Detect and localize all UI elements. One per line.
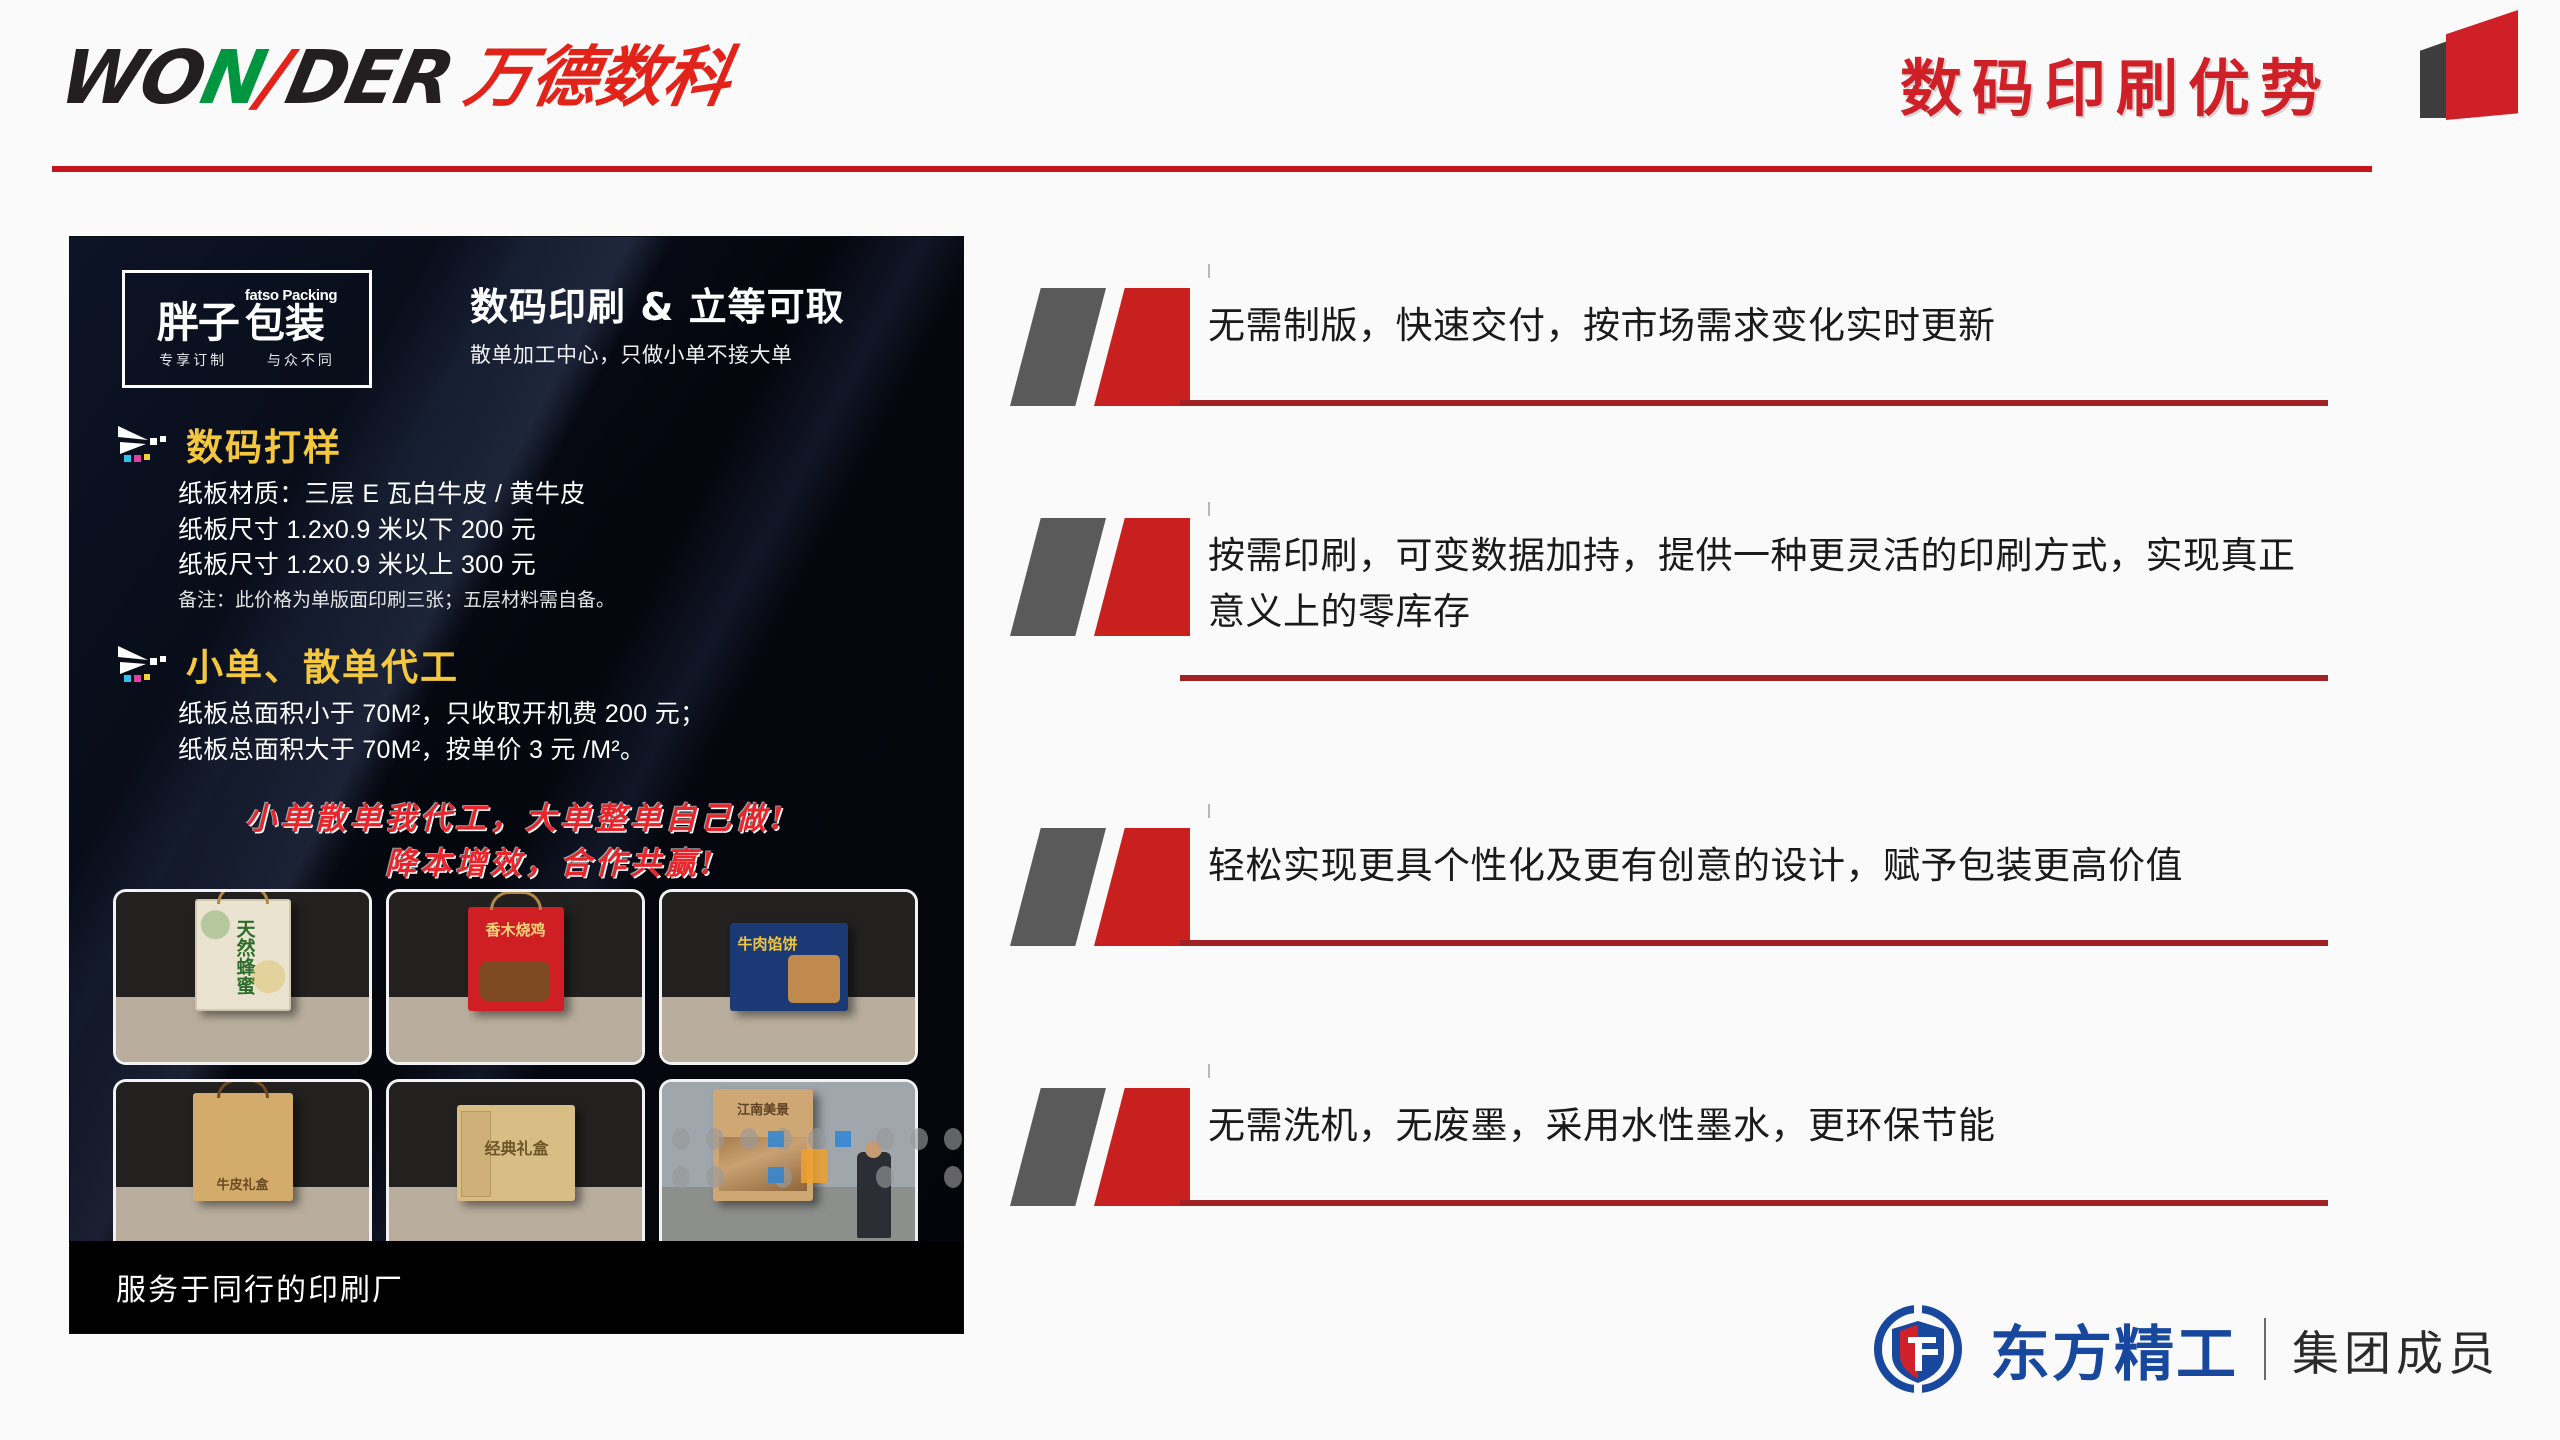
slogan-line-2: 降本增效，合作共赢! bbox=[70, 842, 963, 887]
bullet-underline bbox=[1180, 940, 2328, 946]
bullet-tick bbox=[1208, 804, 1210, 818]
section-line: 纸板总面积大于 70M²，按单价 3 元 /M²。 bbox=[178, 733, 916, 769]
section-line: 纸板尺寸 1.2x0.9 米以上 300 元 bbox=[178, 548, 916, 584]
bullet-text: 无需洗机，无废墨，采用水性墨水，更环保节能 bbox=[1208, 1098, 2320, 1154]
chevron-right-icon bbox=[116, 424, 172, 464]
bullet-text: 按需印刷，可变数据加持，提供一种更灵活的印刷方式，实现真正意义上的零库存 bbox=[1208, 528, 2320, 639]
marker-red-parallelogram bbox=[1094, 828, 1190, 946]
section-title: 数码打样 bbox=[186, 417, 342, 471]
brand-word-der: DER bbox=[280, 41, 459, 115]
product-photo-caption: 牛皮礼盒 bbox=[193, 1174, 293, 1193]
dongfang-emblem-icon bbox=[1872, 1303, 1964, 1395]
bullet-underline bbox=[1180, 1200, 2328, 1206]
corner-decoration-icon bbox=[2412, 8, 2532, 120]
product-photo: 香木烧鸡 bbox=[389, 892, 642, 1062]
bullet-tick bbox=[1208, 1064, 1210, 1078]
section-line: 纸板材质：三层 E 瓦白牛皮 / 黄牛皮 bbox=[178, 477, 916, 513]
poster-section-digital-proofing: 数码打样 纸板材质：三层 E 瓦白牛皮 / 黄牛皮 纸板尺寸 1.2x0.9 米… bbox=[116, 417, 916, 615]
bullet-text: 无需制版，快速交付，按市场需求变化实时更新 bbox=[1208, 298, 2320, 354]
poster-headline: 数码印刷 & 立等可取 bbox=[470, 285, 910, 331]
poster-section-small-order-oem: 小单、散单代工 纸板总面积小于 70M²，只收取开机费 200 元； 纸板总面积… bbox=[116, 637, 916, 768]
bullet-underline bbox=[1180, 675, 2328, 681]
poster-slogan: 小单散单我代工，大单整单自己做! 降本增效，合作共赢! bbox=[70, 797, 963, 887]
corner-red-shape bbox=[2446, 10, 2518, 120]
bullet-marker-icon bbox=[1010, 288, 1210, 408]
section-line: 纸板总面积小于 70M²，只收取开机费 200 元； bbox=[178, 697, 916, 733]
product-photo: 牛肉馅饼 bbox=[662, 892, 915, 1062]
footer-member-label: 集团成员 bbox=[2292, 1315, 2500, 1384]
marker-red-parallelogram bbox=[1094, 288, 1190, 406]
fatso-sub-left: 专享订制 bbox=[159, 352, 227, 368]
product-photo: 经典礼盒 bbox=[389, 1082, 642, 1252]
fatso-packing-logo: 胖子 fatso Packing 包装 专享订制 与众不同 bbox=[122, 270, 372, 388]
product-photo-caption: 江南美景 bbox=[713, 1099, 813, 1118]
marker-gray-parallelogram bbox=[1010, 828, 1106, 946]
marker-gray-parallelogram bbox=[1010, 518, 1106, 636]
product-photo-caption: 香木烧鸡 bbox=[468, 919, 564, 940]
footer-divider bbox=[2264, 1318, 2266, 1380]
product-photo-caption: 牛肉馅饼 bbox=[738, 933, 798, 954]
bullet-marker-icon bbox=[1010, 518, 1210, 638]
bullet-tick bbox=[1208, 502, 1210, 516]
photo-row: 天然蜂蜜 香木烧鸡 牛肉馅饼 bbox=[116, 892, 916, 1062]
bullet-tick bbox=[1208, 264, 1210, 278]
poster-footer-text: 服务于同行的印刷厂 bbox=[116, 1265, 404, 1309]
poster-subheadline: 散单加工中心，只做小单不接大单 bbox=[470, 339, 910, 369]
footer-company-name: 东方精工 bbox=[1990, 1306, 2238, 1393]
bullet-marker-icon bbox=[1010, 828, 1210, 948]
fatso-logo-cn-right: 包装 bbox=[245, 305, 325, 343]
marker-gray-parallelogram bbox=[1010, 288, 1106, 406]
page-title: 数码印刷优势 bbox=[1900, 38, 2332, 128]
bullet-marker-icon bbox=[1010, 1088, 1210, 1208]
promo-poster-image: 胖子 fatso Packing 包装 专享订制 与众不同 数码印刷 & 立等可… bbox=[70, 237, 963, 1333]
section-title: 小单、散单代工 bbox=[186, 637, 459, 691]
wonder-brand-logo: WO N / DER 万德数科 bbox=[62, 42, 730, 114]
fatso-logo-cn-left: 胖子 bbox=[157, 303, 239, 343]
marker-gray-parallelogram bbox=[1010, 1088, 1106, 1206]
header-divider bbox=[52, 166, 2372, 172]
marker-red-parallelogram bbox=[1094, 1088, 1190, 1206]
poster-headline-block: 数码印刷 & 立等可取 散单加工中心，只做小单不接大单 bbox=[470, 285, 910, 369]
marker-red-parallelogram bbox=[1094, 518, 1190, 636]
chevron-right-icon bbox=[116, 644, 172, 684]
bullet-underline bbox=[1180, 400, 2328, 406]
dongfang-jinggong-footer-logo: 东方精工 集团成员 bbox=[1872, 1303, 2500, 1395]
brand-word-wo: WO bbox=[54, 41, 210, 115]
section-line: 纸板尺寸 1.2x0.9 米以下 200 元 bbox=[178, 513, 916, 549]
product-photo: 天然蜂蜜 bbox=[116, 892, 369, 1062]
product-photo: 牛皮礼盒 bbox=[116, 1082, 369, 1252]
section-note: 备注：此价格为单版面印刷三张；五层材料需自备。 bbox=[178, 587, 916, 616]
product-photo-caption: 经典礼盒 bbox=[485, 1135, 549, 1159]
slogan-line-1: 小单散单我代工，大单整单自己做! bbox=[70, 797, 963, 842]
bullet-text: 轻松实现更具个性化及更有创意的设计，赋予包装更高价值 bbox=[1208, 838, 2320, 894]
poster-footer-bar: 服务于同行的印刷厂 bbox=[70, 1241, 963, 1333]
fatso-sub-right: 与众不同 bbox=[267, 352, 335, 368]
brand-chinese-name: 万德数科 bbox=[461, 45, 737, 111]
slide-header: WO N / DER 万德数科 数码印刷优势 bbox=[0, 0, 2560, 175]
